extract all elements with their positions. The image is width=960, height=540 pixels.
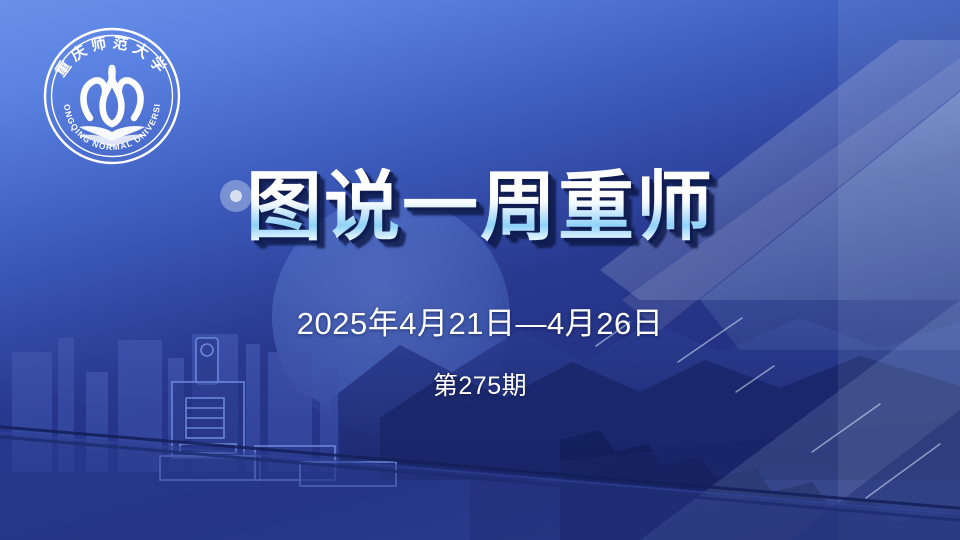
university-logo: 重庆师范大学 CHONGQING NORMAL UNIVERSITY	[38, 22, 186, 170]
issue-number: 第275期	[0, 366, 960, 402]
date-range: 2025年4月21日—4月26日	[0, 298, 960, 343]
title-block: 图说一周重师	[0, 168, 960, 246]
slide-canvas: 重庆师范大学 CHONGQING NORMAL UNIVERSITY 图说一周重…	[0, 0, 960, 540]
page-title: 图说一周重师	[246, 168, 714, 246]
university-seal-icon: 重庆师范大学 CHONGQING NORMAL UNIVERSITY	[38, 22, 186, 170]
